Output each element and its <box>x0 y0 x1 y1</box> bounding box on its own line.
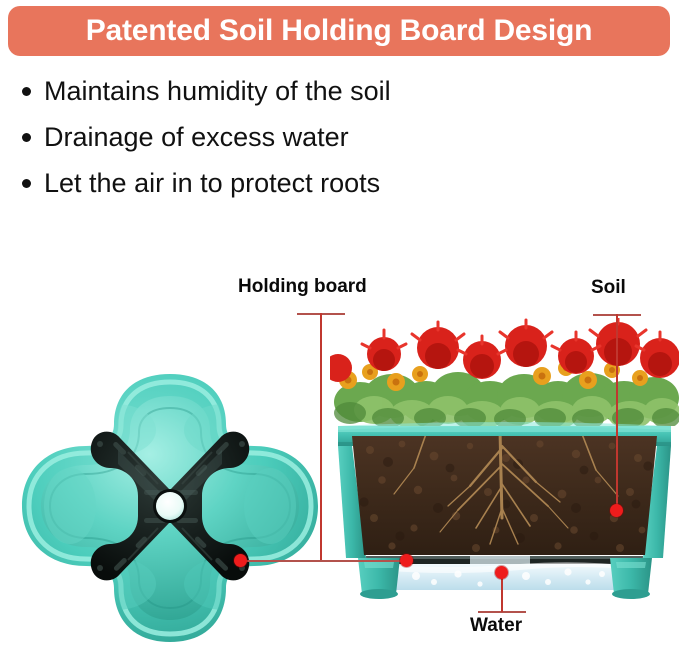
callout-label-soil: Soil <box>591 277 626 299</box>
bullet-dot-icon <box>22 179 31 188</box>
infographic-page: Patented Soil Holding Board Design Maint… <box>0 0 679 646</box>
bullet-dot-icon <box>22 87 31 96</box>
holding-board-marker-dot-right <box>400 554 413 567</box>
holding-board-leader-vertical <box>320 313 322 561</box>
callout-label-water: Water <box>470 615 522 637</box>
feature-list: Maintains humidity of the soil Drainage … <box>22 74 582 212</box>
feature-text: Let the air in to protect roots <box>44 166 380 200</box>
list-item: Drainage of excess water <box>22 120 582 166</box>
callout-label-holding-board: Holding board <box>238 276 367 298</box>
list-item: Let the air in to protect roots <box>22 166 582 212</box>
soil-marker-dot <box>610 504 623 517</box>
center-drain-hole <box>156 492 184 520</box>
red-flowers <box>330 318 679 382</box>
product-photo-top-view <box>8 372 332 646</box>
water-leader-vertical <box>501 578 503 612</box>
bullet-dot-icon <box>22 133 31 142</box>
feature-text: Maintains humidity of the soil <box>44 74 391 108</box>
header-banner: Patented Soil Holding Board Design <box>8 6 670 56</box>
plants-foliage <box>330 318 679 429</box>
feature-text: Drainage of excess water <box>44 120 349 154</box>
soil-body <box>340 428 675 568</box>
holding-board-leader-horizontal <box>243 560 408 562</box>
holding-board-marker-dot-left <box>234 554 247 567</box>
list-item: Maintains humidity of the soil <box>22 74 582 120</box>
clover-planter-illustration <box>8 372 332 646</box>
soil-leader-vertical <box>616 314 618 510</box>
water-marker-dot <box>495 566 508 579</box>
page-title: Patented Soil Holding Board Design <box>86 14 593 48</box>
